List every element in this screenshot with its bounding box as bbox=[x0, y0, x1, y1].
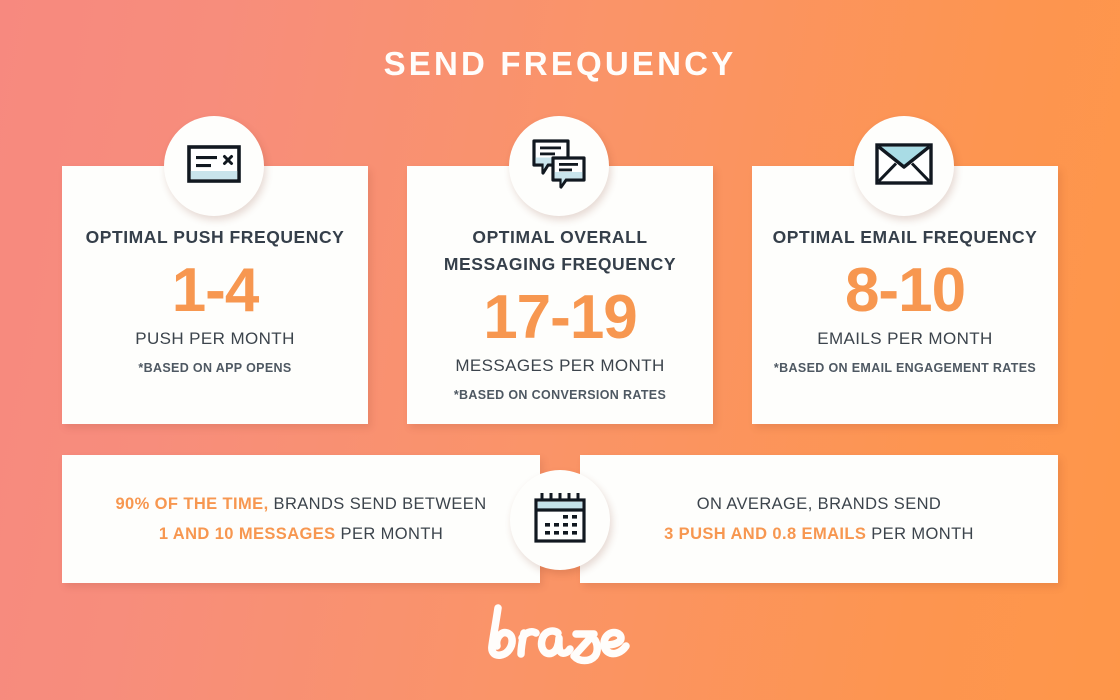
icon-circle-push bbox=[164, 116, 264, 216]
banner-right-rest-1: ON AVERAGE, BRANDS SEND bbox=[697, 495, 942, 513]
calendar-icon bbox=[534, 493, 586, 548]
braze-logo bbox=[0, 600, 1120, 673]
banner-messages-stat: 90% OF THE TIME, BRANDS SEND BETWEEN 1 A… bbox=[62, 455, 540, 583]
card-unit: PUSH PER MONTH bbox=[72, 328, 358, 350]
banner-right-text: ON AVERAGE, BRANDS SEND 3 PUSH AND 0.8 E… bbox=[640, 489, 998, 549]
envelope-icon bbox=[875, 143, 933, 190]
banner-left-rest-1: BRANDS SEND BETWEEN bbox=[274, 495, 487, 513]
banner-average-stat: ON AVERAGE, BRANDS SEND 3 PUSH AND 0.8 E… bbox=[580, 455, 1058, 583]
card-note: *BASED ON CONVERSION RATES bbox=[417, 386, 703, 404]
push-notification-icon bbox=[187, 145, 241, 188]
card-note: *BASED ON EMAIL ENGAGEMENT RATES bbox=[762, 359, 1048, 377]
banner-left-highlight-2: 1 AND 10 MESSAGES bbox=[159, 525, 336, 543]
card-note: *BASED ON APP OPENS bbox=[72, 359, 358, 377]
banner-right-rest-2: PER MONTH bbox=[871, 525, 974, 543]
page-title: SEND FREQUENCY bbox=[0, 44, 1120, 84]
banner-right-highlight-2: 3 PUSH AND 0.8 EMAILS bbox=[664, 525, 866, 543]
banner-left-rest-2: PER MONTH bbox=[341, 525, 444, 543]
card-unit: MESSAGES PER MONTH bbox=[417, 355, 703, 377]
icon-circle-calendar bbox=[510, 470, 610, 570]
banner-left-text: 90% OF THE TIME, BRANDS SEND BETWEEN 1 A… bbox=[91, 489, 510, 549]
card-number: 8-10 bbox=[762, 255, 1048, 327]
card-number: 17-19 bbox=[417, 282, 703, 354]
card-heading: OPTIMAL OVERALL MESSAGING FREQUENCY bbox=[417, 224, 703, 278]
card-number: 1-4 bbox=[72, 255, 358, 327]
icon-circle-email bbox=[854, 116, 954, 216]
infographic-canvas: SEND FREQUENCY OPTIMAL PUSH FREQUENCY 1-… bbox=[0, 0, 1120, 700]
chat-bubbles-icon bbox=[531, 138, 587, 195]
card-heading: OPTIMAL PUSH FREQUENCY bbox=[72, 224, 358, 251]
icon-circle-messaging bbox=[509, 116, 609, 216]
card-heading: OPTIMAL EMAIL FREQUENCY bbox=[762, 224, 1048, 251]
card-unit: EMAILS PER MONTH bbox=[762, 328, 1048, 350]
banner-left-highlight-1: 90% OF THE TIME, bbox=[115, 495, 268, 513]
